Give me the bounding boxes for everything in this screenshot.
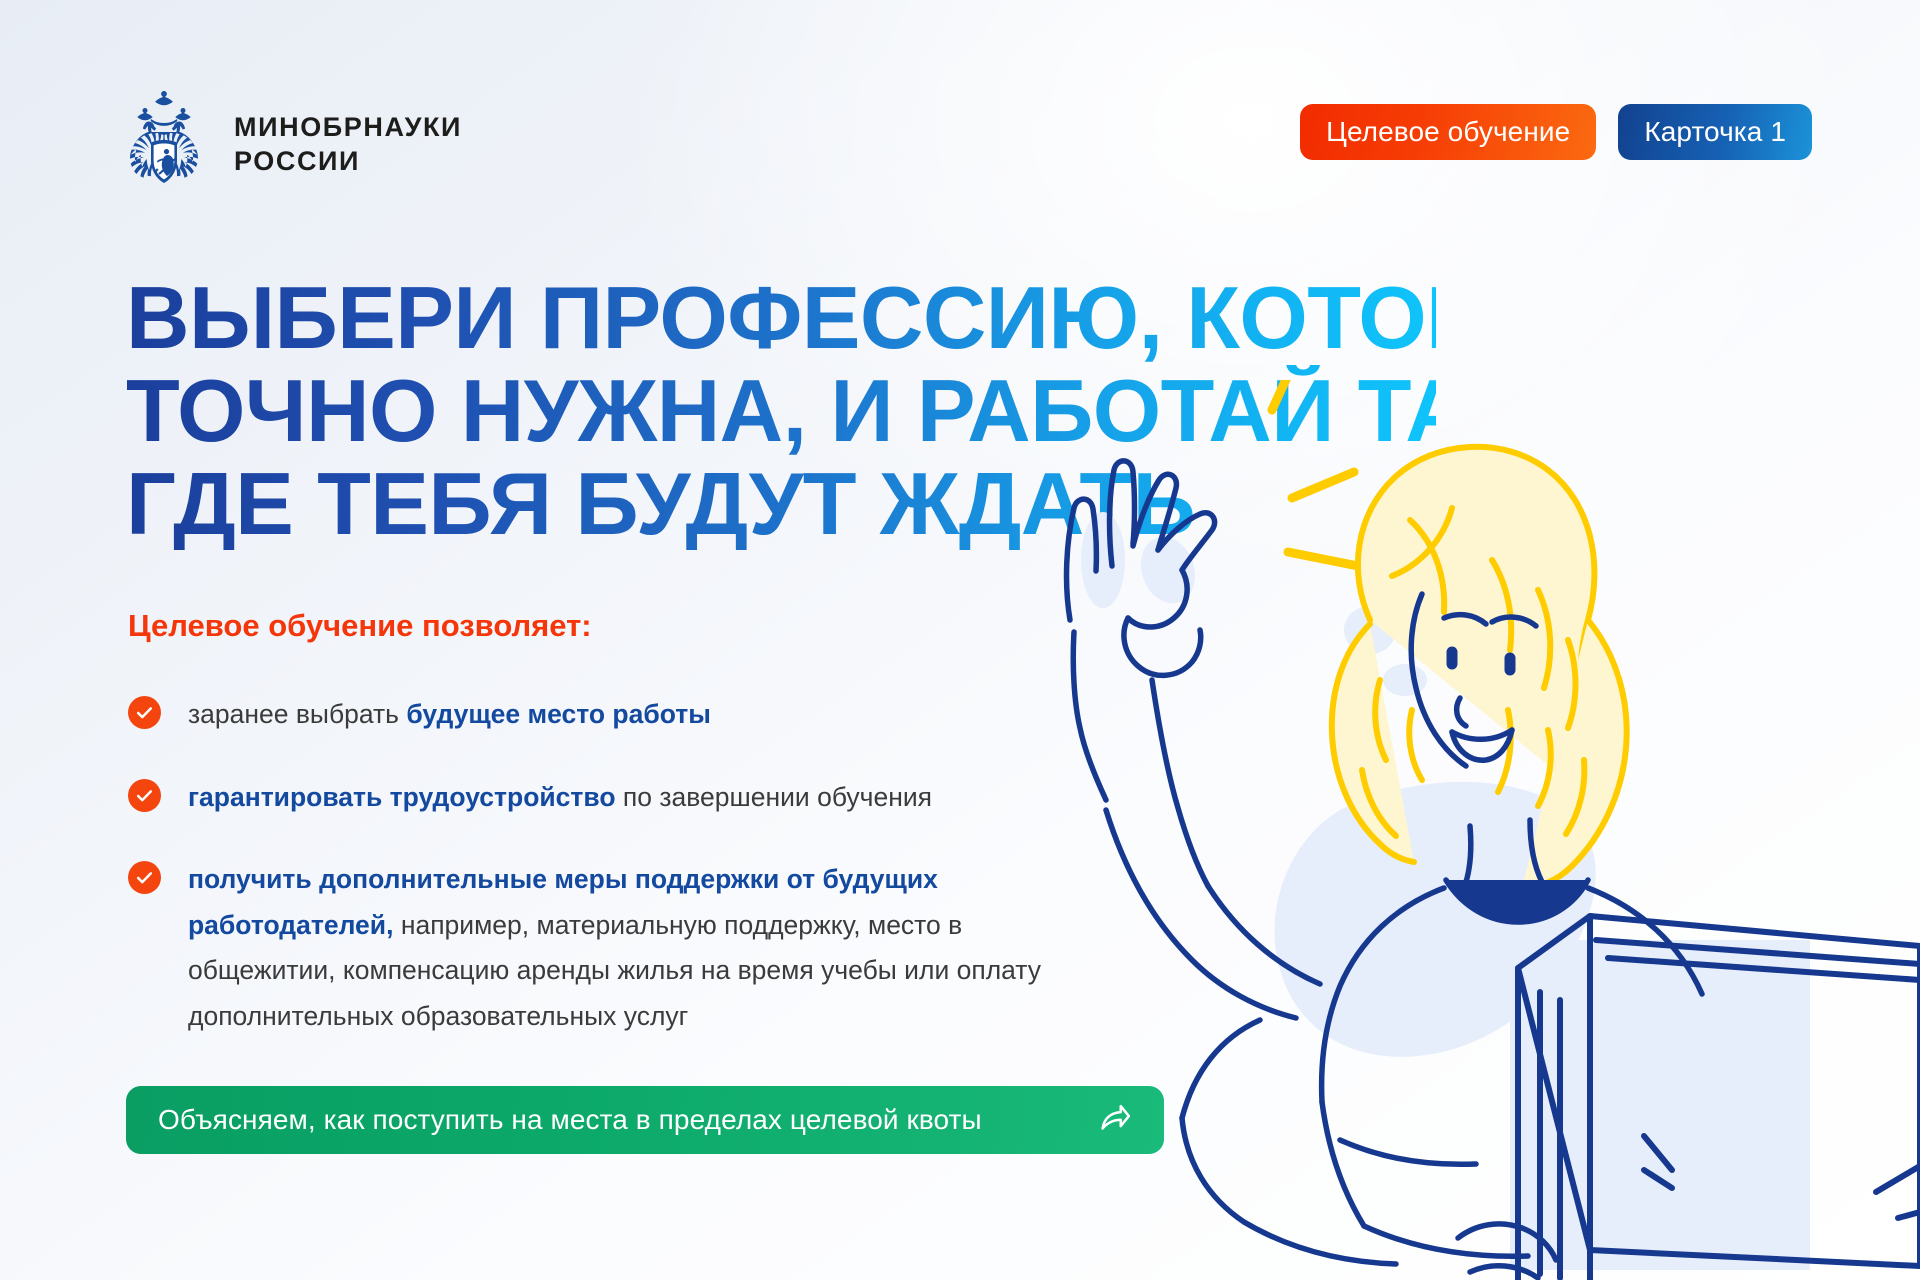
badge-group: Целевое обучение Карточка 1 — [1300, 104, 1812, 160]
cta-banner[interactable]: Объясняем, как поступить на места в пред… — [126, 1086, 1164, 1154]
headline-line-3: ГДЕ ТЕБЯ БУДУТ ЖДАТЬ — [126, 458, 1436, 551]
bullet-1-emphasis: будущее место работы — [406, 699, 711, 729]
ministry-name: МИНОБРНАУКИ РОССИИ — [234, 110, 462, 178]
page-title: ВЫБЕРИ ПРОФЕССИЮ, КОТОРАЯ ТОЧНО НУЖНА, И… — [126, 272, 1436, 550]
bullet-2-plain: по завершении обучения — [616, 782, 932, 812]
list-item: заранее выбрать будущее место работы — [128, 692, 1088, 738]
list-item-text: гарантировать трудоустройство по заверше… — [188, 775, 932, 821]
ministry-header: МИНОБРНАУКИ РОССИИ — [118, 88, 462, 200]
cta-label: Объясняем, как поступить на места в пред… — [158, 1104, 982, 1136]
badge-card-number[interactable]: Карточка 1 — [1618, 104, 1812, 160]
bullet-1-plain: заранее выбрать — [188, 699, 406, 729]
subheading: Целевое обучение позволяет: — [128, 608, 592, 644]
list-item-text: получить дополнительные меры поддержки о… — [188, 857, 1088, 1039]
list-item: получить дополнительные меры поддержки о… — [128, 857, 1088, 1039]
check-circle-icon — [128, 696, 161, 729]
headline-line-1: ВЫБЕРИ ПРОФЕССИЮ, КОТОРАЯ — [126, 272, 1436, 365]
infographic-card: МИНОБРНАУКИ РОССИИ Целевое обучение Карт… — [0, 0, 1920, 1280]
headline-line-2: ТОЧНО НУЖНА, И РАБОТАЙ ТАМ, — [126, 365, 1436, 458]
bullet-2-emphasis: гарантировать трудоустройство — [188, 782, 616, 812]
check-circle-icon — [128, 779, 161, 812]
list-item: гарантировать трудоустройство по заверше… — [128, 775, 1088, 821]
russian-double-headed-eagle-emblem-icon — [118, 88, 210, 200]
badge-program[interactable]: Целевое обучение — [1300, 104, 1596, 160]
swipe-share-arrow-icon — [1094, 1097, 1136, 1144]
check-circle-icon — [128, 861, 161, 894]
benefits-list: заранее выбрать будущее место работы гар… — [128, 692, 1088, 1039]
list-item-text: заранее выбрать будущее место работы — [188, 692, 711, 738]
